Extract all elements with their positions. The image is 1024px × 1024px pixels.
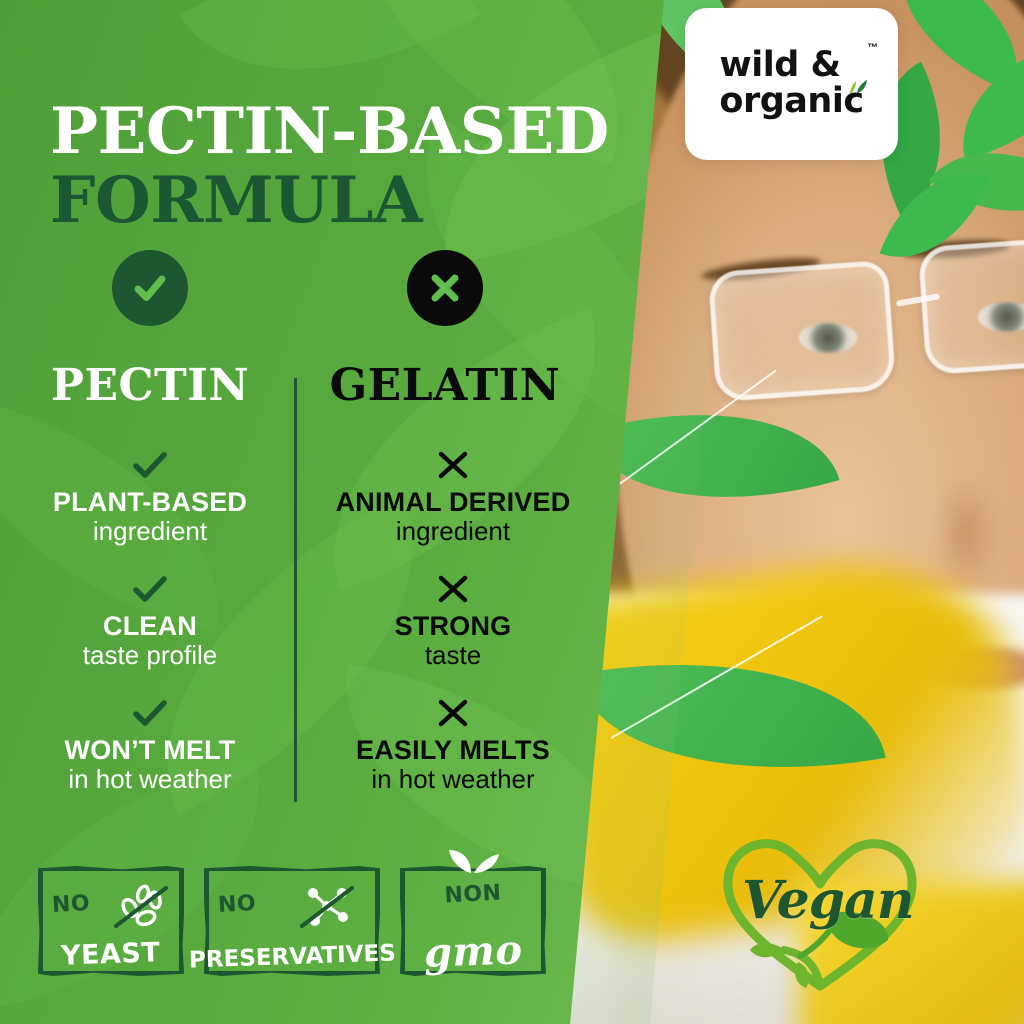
seal-label: gmo <box>423 932 523 971</box>
vegan-badge: Vegan <box>712 818 928 1008</box>
leaves-icon <box>445 848 501 874</box>
list-item-primary: WON’T MELT <box>15 736 285 765</box>
cross-icon <box>423 266 467 310</box>
list-item-primary: EASILY MELTS <box>318 736 588 765</box>
check-icon <box>15 696 285 730</box>
list-item-secondary: taste profile <box>15 641 285 670</box>
check-icon <box>15 448 285 482</box>
list-item-primary: STRONG <box>318 612 588 641</box>
two-leaves-icon <box>836 77 870 101</box>
comparison-title-pectin: PECTIN <box>25 360 275 411</box>
list-item: EASILY MELTS in hot weather <box>318 696 588 794</box>
cross-icon <box>318 696 588 730</box>
list-item-secondary: ingredient <box>318 517 588 546</box>
yeast-crossed-out-icon <box>110 880 172 932</box>
comparison-divider <box>294 378 297 802</box>
brand-logo-card[interactable]: wild & organic ™ <box>685 8 898 160</box>
trademark-symbol: ™ <box>867 43 878 54</box>
comparison-column-gelatin: GELATIN <box>320 250 570 411</box>
list-item-secondary: in hot weather <box>318 765 588 794</box>
seal-prefix: NO <box>217 891 256 918</box>
headline-line1: PECTIN-BASED <box>50 97 650 166</box>
check-icon <box>15 572 285 606</box>
list-item-secondary: ingredient <box>15 517 285 546</box>
list-item-primary: CLEAN <box>15 612 285 641</box>
seal-no-yeast: NO YEAST <box>38 866 184 976</box>
certification-seals: NO YEAST NO <box>38 866 546 976</box>
list-item-secondary: in hot weather <box>15 765 285 794</box>
cross-circle-icon <box>407 250 483 326</box>
headline-line2: FORMULA <box>50 166 650 235</box>
list-item: CLEAN taste profile <box>15 572 285 670</box>
check-circle-icon <box>112 250 188 326</box>
list-item-primary: ANIMAL DERIVED <box>318 488 588 517</box>
gelatin-drawback-list: ANIMAL DERIVED ingredient STRONG taste E… <box>318 448 588 819</box>
comparison-title-gelatin: GELATIN <box>320 360 570 411</box>
list-item-secondary: taste <box>318 641 588 670</box>
list-item: STRONG taste <box>318 572 588 670</box>
cross-icon <box>318 572 588 606</box>
pectin-benefit-list: PLANT-BASED ingredient CLEAN taste profi… <box>15 448 285 819</box>
comparison-column-pectin: PECTIN <box>25 250 275 411</box>
list-item: ANIMAL DERIVED ingredient <box>318 448 588 546</box>
list-item: WON’T MELT in hot weather <box>15 696 285 794</box>
seal-no-preservatives: NO PRESERVATIVES <box>204 866 380 976</box>
poster-canvas: wild & organic ™ PECTIN-BASED FORMULA PE… <box>0 0 1024 1024</box>
cross-icon <box>318 448 588 482</box>
seal-non-gmo: NON gmo <box>400 866 546 976</box>
brand-logo-wordmark: wild & organic ™ <box>719 49 863 118</box>
check-icon <box>128 266 172 310</box>
seal-label: YEAST <box>61 937 161 971</box>
molecule-crossed-out-icon <box>296 880 358 932</box>
vegan-label: Vegan <box>742 870 914 931</box>
list-item-primary: PLANT-BASED <box>15 488 285 517</box>
page-title: PECTIN-BASED FORMULA <box>50 97 650 235</box>
list-item: PLANT-BASED ingredient <box>15 448 285 546</box>
seal-prefix: NO <box>51 891 90 918</box>
